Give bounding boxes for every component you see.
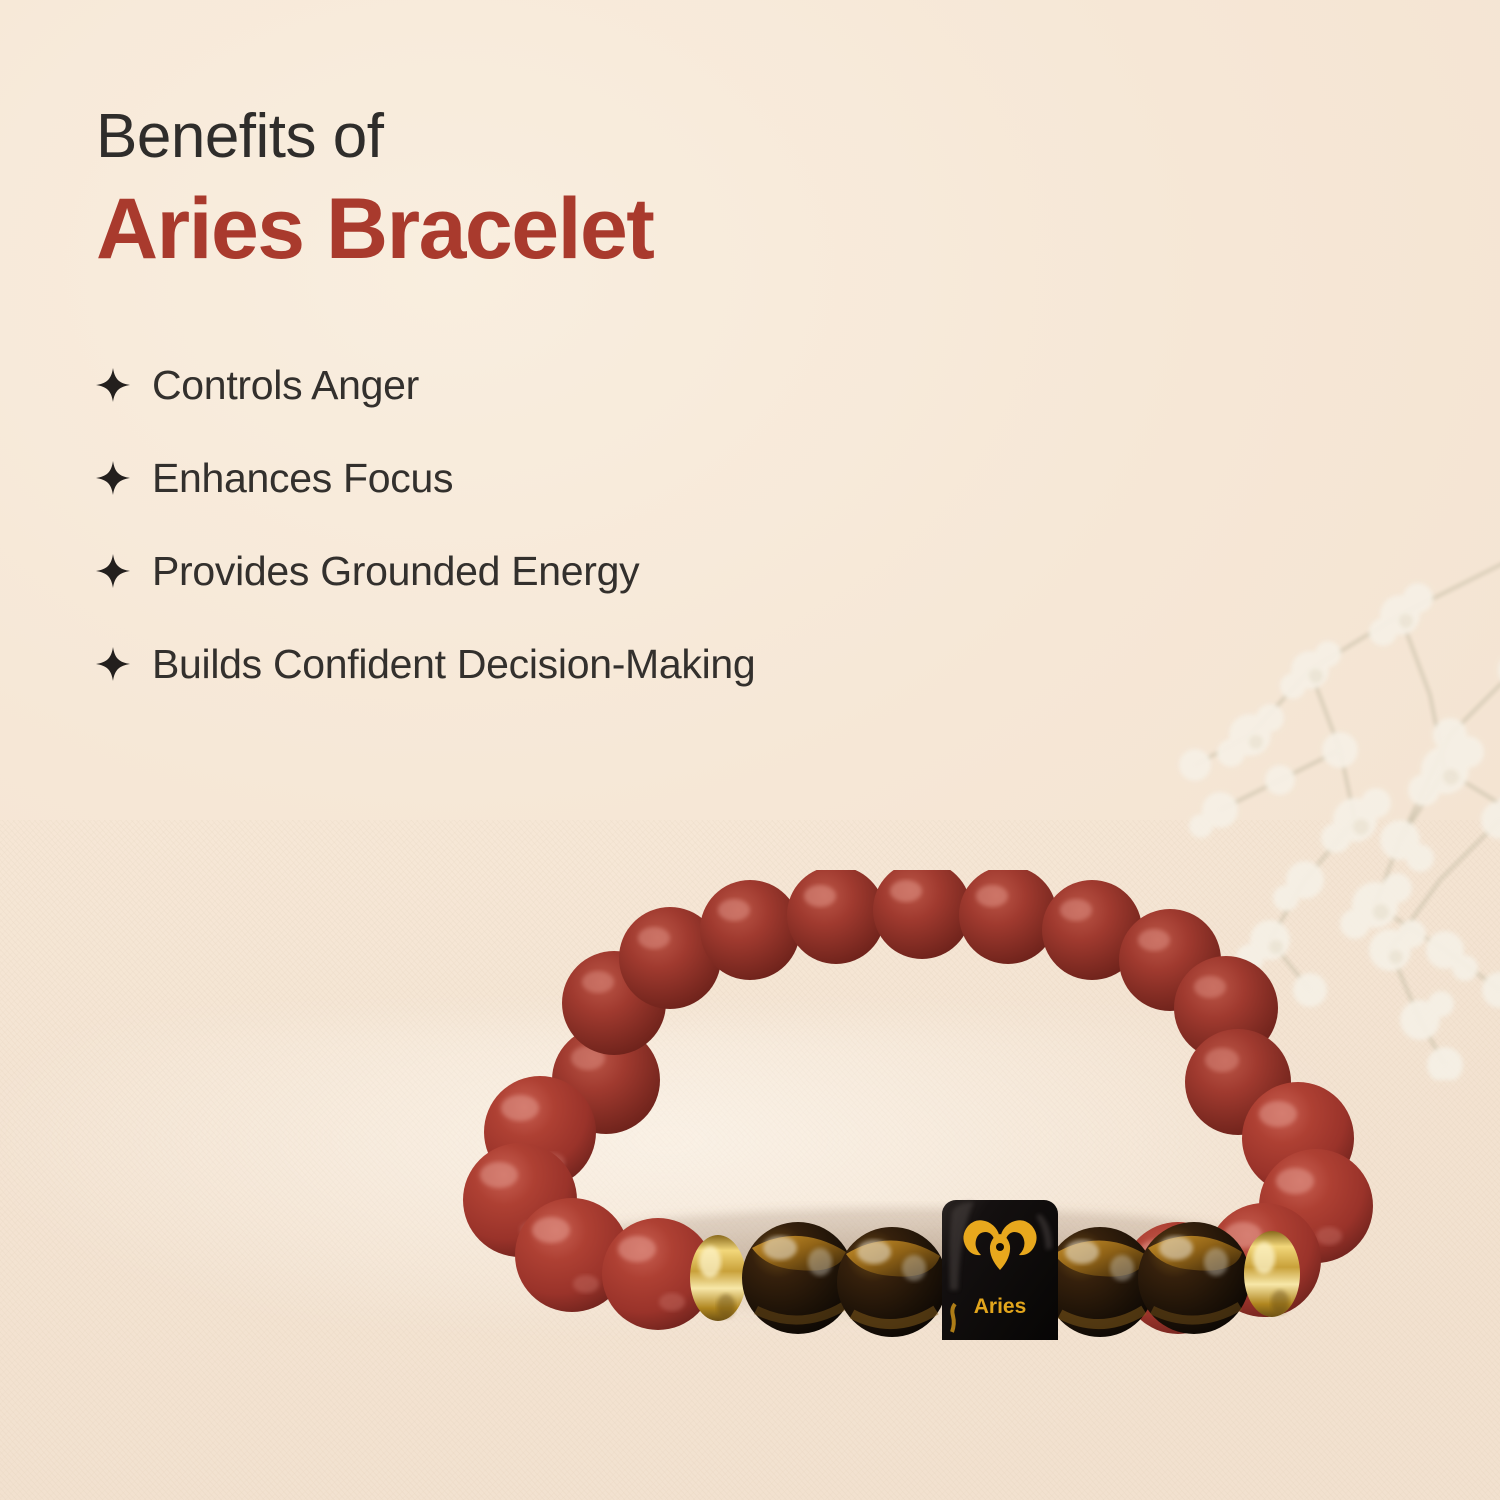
back-arc-red-jasper-beads [552, 870, 1291, 1135]
list-item: Controls Anger [96, 362, 1096, 409]
list-item: Provides Grounded Energy [96, 548, 1096, 595]
benefit-label: Provides Grounded Energy [152, 548, 639, 595]
four-pointed-star-icon [96, 554, 130, 588]
four-pointed-star-icon [96, 647, 130, 681]
product-benefits-banner: Benefits of Aries Bracelet Controls Ange… [0, 0, 1500, 1500]
tiger-eye-bead-4 [1138, 1222, 1250, 1334]
benefits-copy-block: Benefits of Aries Bracelet Controls Ange… [96, 104, 1096, 734]
aries-zodiac-charm: Aries [942, 1200, 1058, 1340]
benefit-label: Builds Confident Decision-Making [152, 641, 755, 688]
gold-spacer-bead-left [690, 1235, 746, 1321]
list-item: Enhances Focus [96, 455, 1096, 502]
gold-spacer-bead-right [1244, 1231, 1300, 1317]
tiger-eye-bead-2 [837, 1227, 947, 1337]
four-pointed-star-icon [96, 368, 130, 402]
benefit-label: Controls Anger [152, 362, 419, 409]
benefits-list: Controls Anger Enhances Focus Provides G… [96, 362, 1096, 688]
aries-bracelet-product: Aries [400, 870, 1420, 1340]
left-side-red-jasper-beads [463, 1076, 714, 1330]
charm-label: Aries [974, 1295, 1027, 1318]
kicker-text: Benefits of [96, 104, 1096, 169]
four-pointed-star-icon [96, 461, 130, 495]
page-title: Aries Bracelet [96, 183, 1096, 276]
list-item: Builds Confident Decision-Making [96, 641, 1096, 688]
benefit-label: Enhances Focus [152, 455, 453, 502]
